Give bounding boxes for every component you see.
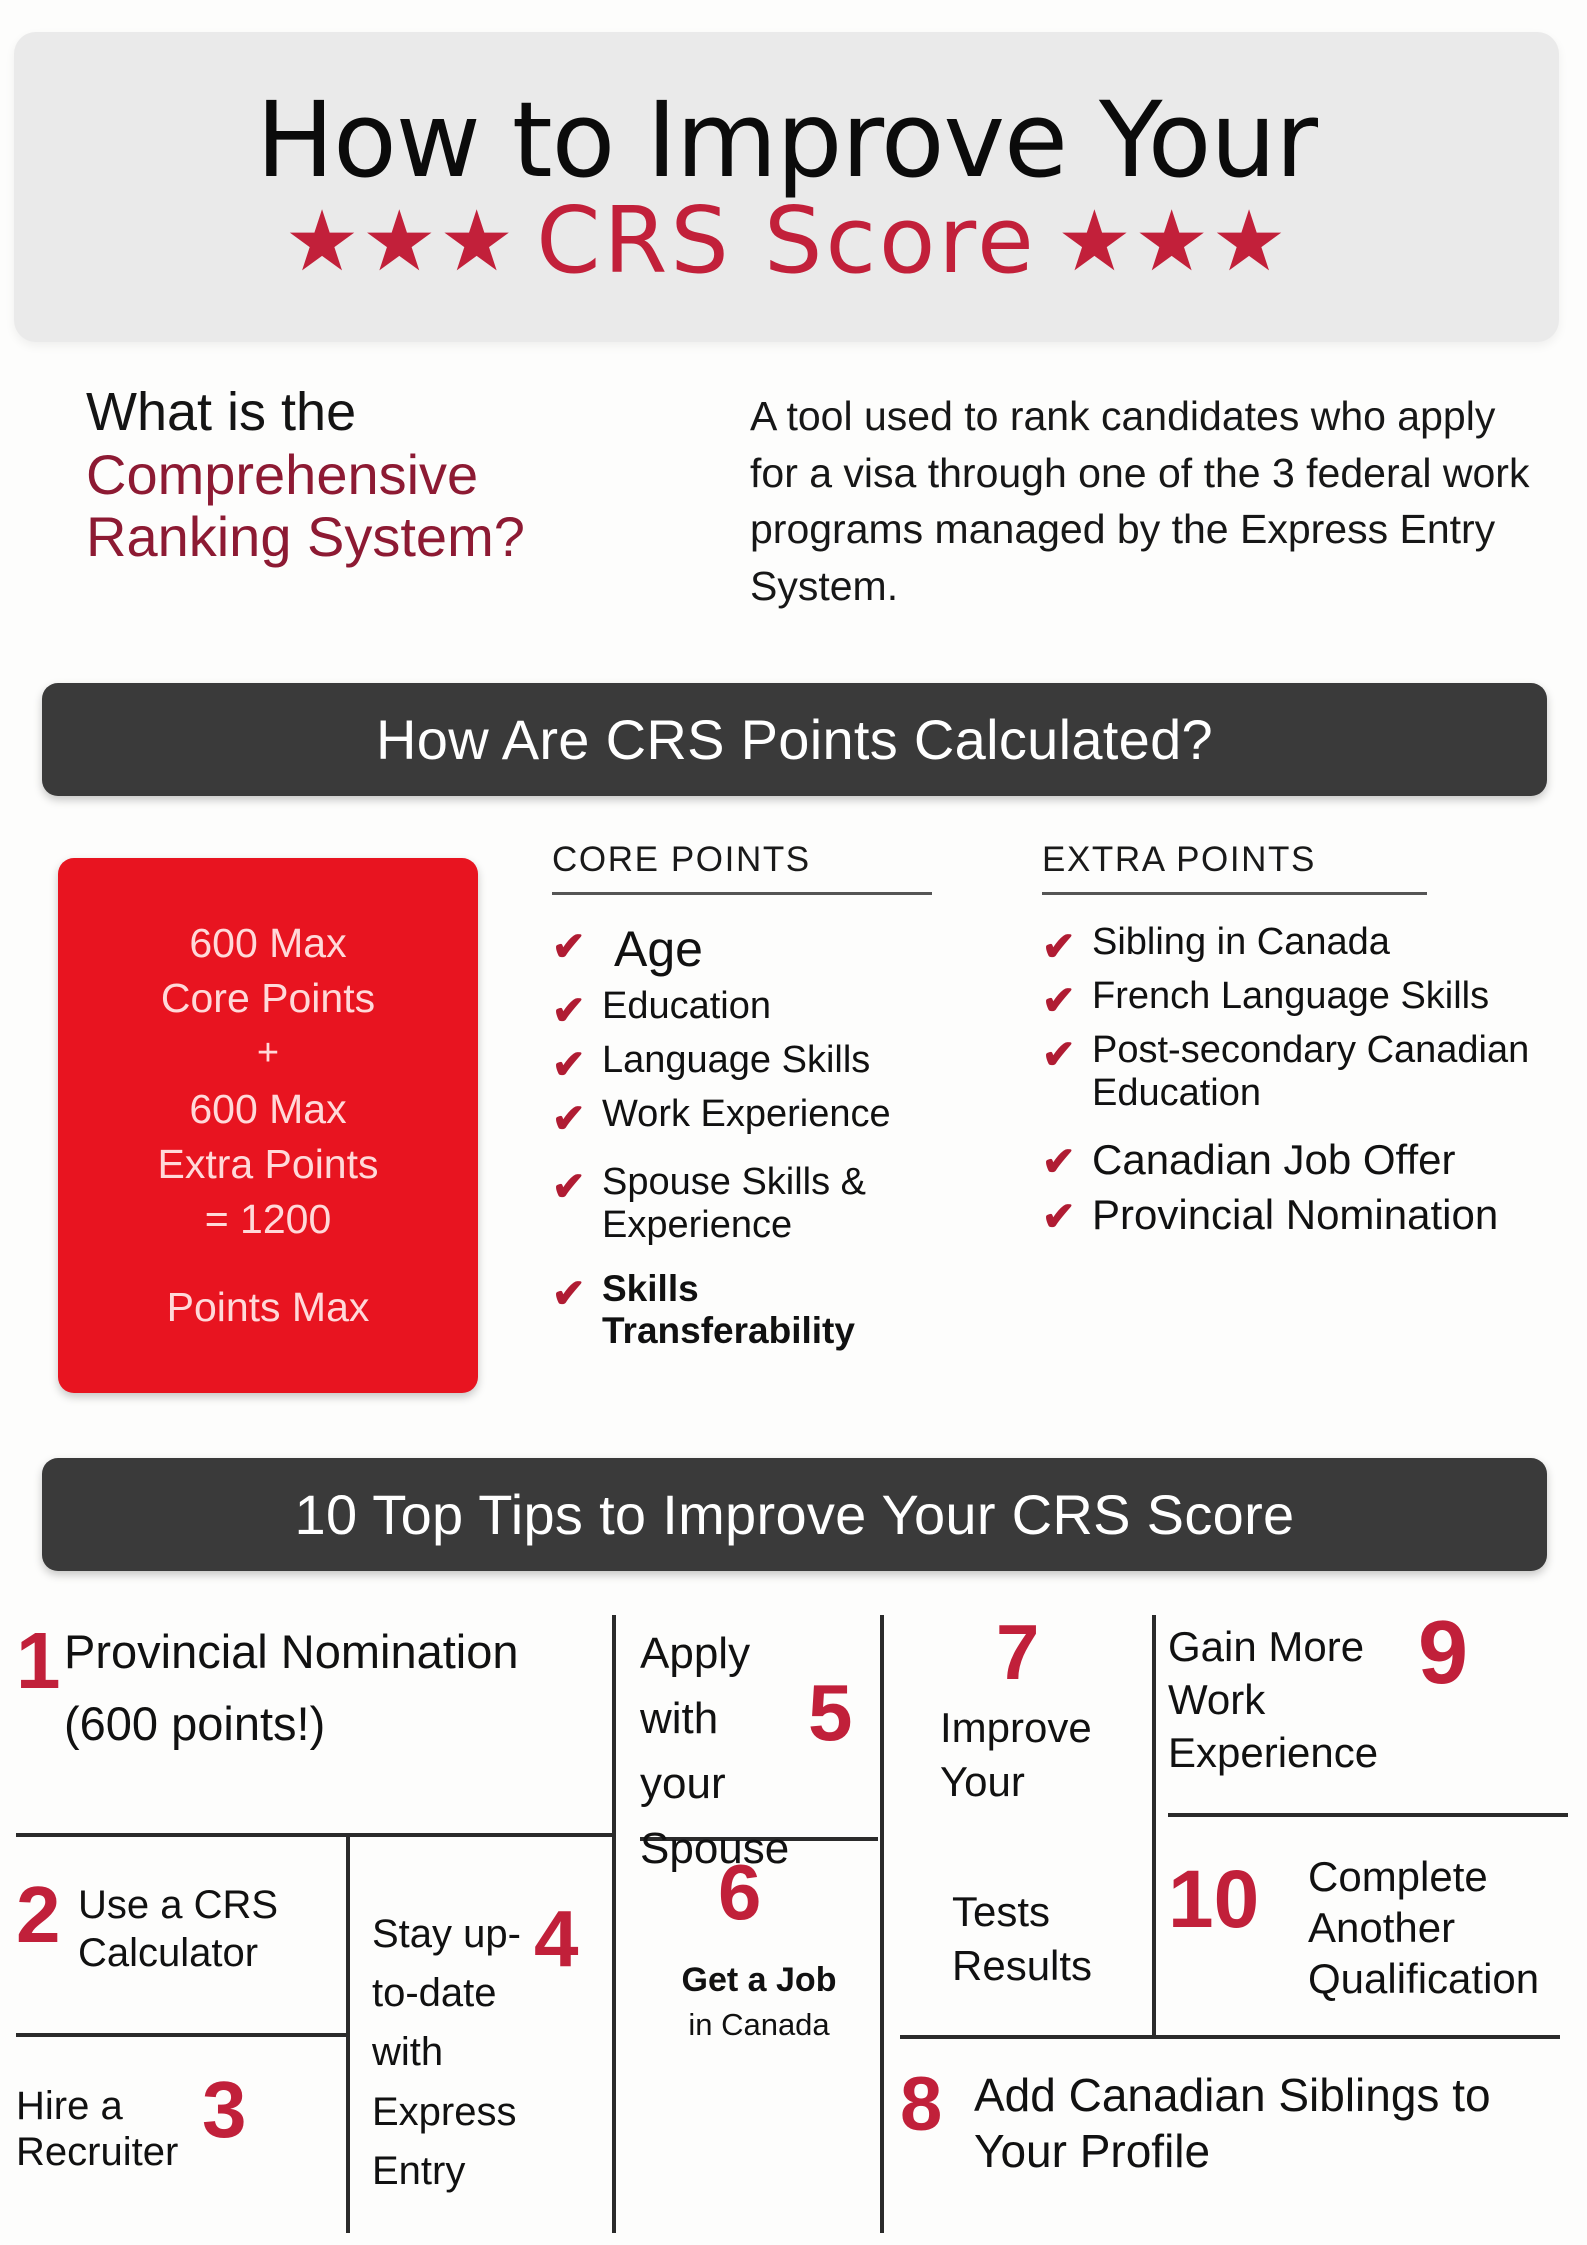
- tip-2-number: 2: [16, 1877, 61, 1953]
- core-item-label: Education: [602, 985, 771, 1028]
- extra-item-label: Canadian Job Offer: [1092, 1136, 1455, 1183]
- infographic-page: How to Improve Your ★★★ CRS Score ★★★ Wh…: [0, 0, 1587, 2245]
- grid-line-horizontal: [16, 1833, 616, 1837]
- core-points-heading: CORE POINTS: [552, 840, 952, 892]
- check-icon: ✔: [1042, 1142, 1092, 1182]
- grid-line-vertical: [1152, 1615, 1156, 2037]
- extra-points-column: EXTRA POINTS ✔ Sibling in Canada ✔ Frenc…: [1042, 840, 1562, 1246]
- tip-3-label-line-2: Recruiter: [16, 2130, 178, 2176]
- check-icon: ✔: [552, 1045, 602, 1085]
- banner-1-label: How Are CRS Points Calculated?: [376, 707, 1213, 772]
- banner-top-tips: 10 Top Tips to Improve Your CRS Score: [42, 1458, 1547, 1571]
- tip-6-label-line-2: in Canada: [640, 2007, 878, 2042]
- tip-7-label-line-2: Tests Results: [952, 1885, 1148, 1993]
- redbox-line-7: Points Max: [167, 1280, 370, 1335]
- redbox-line-1: 600 Max: [189, 916, 346, 971]
- core-list-item: ✔ Skills Transferability: [552, 1268, 952, 1351]
- extra-item-label: Provincial Nomination: [1092, 1191, 1498, 1238]
- extra-points-heading: EXTRA POINTS: [1042, 840, 1562, 892]
- core-item-label: Skills Transferability: [602, 1268, 952, 1351]
- question-line-3: Ranking System?: [86, 506, 686, 569]
- max-points-card: 600 Max Core Points + 600 Max Extra Poin…: [58, 858, 478, 1393]
- extra-item-label: French Language Skills: [1092, 975, 1489, 1018]
- stars-left-icon: ★★★: [284, 199, 516, 283]
- tip-7-number: 7: [996, 1615, 1039, 1689]
- tip-card-5: 5 Apply with your Spouse: [640, 1615, 878, 1835]
- tip-card-6: 6 Get a Job in Canada: [640, 1855, 878, 2085]
- question-line-2: Comprehensive: [86, 444, 686, 507]
- tip-card-9: 9 Gain More Work Experience: [1168, 1615, 1568, 1815]
- check-icon: ✔: [552, 1167, 602, 1207]
- check-icon: ✔: [1042, 1035, 1092, 1075]
- tip-4-number: 4: [534, 1901, 579, 1977]
- points-breakdown-section: 600 Max Core Points + 600 Max Extra Poin…: [0, 840, 1587, 1400]
- tip-7-label-line-1: Improve Your: [940, 1701, 1148, 1809]
- extra-list-item: ✔ French Language Skills: [1042, 975, 1562, 1021]
- check-icon: ✔: [1042, 927, 1092, 967]
- check-icon: ✔: [1042, 1197, 1092, 1237]
- tip-8-number: 8: [900, 2069, 942, 2141]
- tip-5-label: Apply with your Spouse: [640, 1621, 800, 1881]
- core-points-column: CORE POINTS ✔ Age ✔ Education ✔ Language…: [552, 840, 952, 1359]
- tip-card-4: 4 Stay up-to-date with Express Entry: [372, 1877, 616, 2232]
- banner-how-are-points-calculated: How Are CRS Points Calculated?: [42, 683, 1547, 796]
- tip-9-number: 9: [1418, 1611, 1468, 1697]
- tip-10-number: 10: [1168, 1861, 1259, 1939]
- core-item-label: Age: [602, 921, 703, 977]
- extra-item-label: Sibling in Canada: [1092, 921, 1390, 964]
- tip-1-label-line-1: Provincial Nomination: [64, 1625, 519, 1679]
- tip-3-label-line-1: Hire a: [16, 2084, 123, 2130]
- tip-card-1: 1 Provincial Nomination (600 points!): [16, 1615, 612, 1815]
- tip-card-7: 7 Improve Your Tests Results: [900, 1615, 1148, 2035]
- tip-card-3: 3 Hire a Recruiter: [16, 2050, 346, 2230]
- core-list-item: ✔ Education: [552, 985, 952, 1031]
- extra-list-item: ✔ Post-secondary Canadian Education: [1042, 1029, 1562, 1114]
- grid-line-vertical: [346, 1835, 350, 2233]
- redbox-line-5: Extra Points: [157, 1137, 378, 1192]
- grid-line-vertical: [880, 1615, 884, 2233]
- tip-9-label: Gain More Work Experience: [1168, 1621, 1408, 1780]
- check-icon: ✔: [552, 991, 602, 1031]
- tip-2-label-line-1: Use a CRS: [78, 1883, 278, 1929]
- extra-item-label: Post-secondary Canadian Education: [1092, 1029, 1562, 1114]
- extra-points-divider: [1042, 892, 1427, 895]
- core-item-label: Language Skills: [602, 1039, 870, 1082]
- check-icon: ✔: [552, 1274, 602, 1314]
- tip-card-2: 2 Use a CRS Calculator: [16, 1855, 346, 2045]
- tip-5-number: 5: [808, 1675, 853, 1751]
- what-is-crs-section: What is the Comprehensive Ranking System…: [0, 370, 1587, 630]
- tip-10-label: Complete Another Qualification: [1308, 1851, 1568, 2005]
- question-line-1: What is the: [86, 382, 686, 444]
- hero-crs-text: CRS Score: [522, 195, 1050, 287]
- extra-list-item: ✔ Provincial Nomination: [1042, 1191, 1562, 1238]
- tip-card-8: 8 Add Canadian Siblings to Your Profile: [900, 2055, 1560, 2235]
- extra-list-item: ✔ Sibling in Canada: [1042, 921, 1562, 967]
- hero-title-line-2: ★★★ CRS Score ★★★: [284, 195, 1288, 287]
- core-list-item: ✔ Work Experience: [552, 1093, 952, 1139]
- core-item-label: Work Experience: [602, 1093, 891, 1136]
- hero-title-card: How to Improve Your ★★★ CRS Score ★★★: [14, 32, 1559, 342]
- what-is-question: What is the Comprehensive Ranking System…: [86, 382, 686, 569]
- hero-title-line-1: How to Improve Your: [256, 87, 1317, 193]
- what-is-answer: A tool used to rank candidates who apply…: [750, 388, 1550, 614]
- tip-3-number: 3: [202, 2072, 247, 2148]
- core-points-list: ✔ Age ✔ Education ✔ Language Skills ✔ Wo…: [552, 921, 952, 1351]
- tip-6-number: 6: [718, 1855, 761, 1929]
- redbox-line-6: = 1200: [205, 1192, 332, 1247]
- check-icon: ✔: [552, 927, 602, 967]
- check-icon: ✔: [552, 1099, 602, 1139]
- extra-list-item: ✔ Canadian Job Offer: [1042, 1136, 1562, 1183]
- redbox-plus-sign: +: [257, 1025, 279, 1082]
- tip-2-label-line-2: Calculator: [78, 1931, 258, 1977]
- tip-8-label: Add Canadian Siblings to Your Profile: [974, 2067, 1560, 2179]
- top-tips-grid: 1 Provincial Nomination (600 points!) 2 …: [0, 1605, 1587, 2245]
- core-item-label: Spouse Skills & Experience: [602, 1161, 952, 1246]
- redbox-line-4: 600 Max: [189, 1082, 346, 1137]
- banner-2-label: 10 Top Tips to Improve Your CRS Score: [295, 1482, 1295, 1547]
- check-icon: ✔: [1042, 981, 1092, 1021]
- core-list-item: ✔ Spouse Skills & Experience: [552, 1161, 952, 1246]
- core-list-item: ✔ Age: [552, 921, 952, 977]
- tip-card-10: 10 Complete Another Qualification: [1168, 1837, 1568, 2037]
- core-points-divider: [552, 892, 932, 895]
- tip-1-label-line-2: (600 points!): [64, 1697, 325, 1751]
- stars-right-icon: ★★★: [1057, 199, 1289, 283]
- core-list-item: ✔ Language Skills: [552, 1039, 952, 1085]
- tip-1-number: 1: [16, 1623, 61, 1699]
- tip-6-label-line-1: Get a Job: [640, 1961, 878, 2000]
- extra-points-list: ✔ Sibling in Canada ✔ French Language Sk…: [1042, 921, 1562, 1238]
- tip-4-label: Stay up-to-date with Express Entry: [372, 1905, 537, 2201]
- redbox-line-2: Core Points: [161, 971, 375, 1026]
